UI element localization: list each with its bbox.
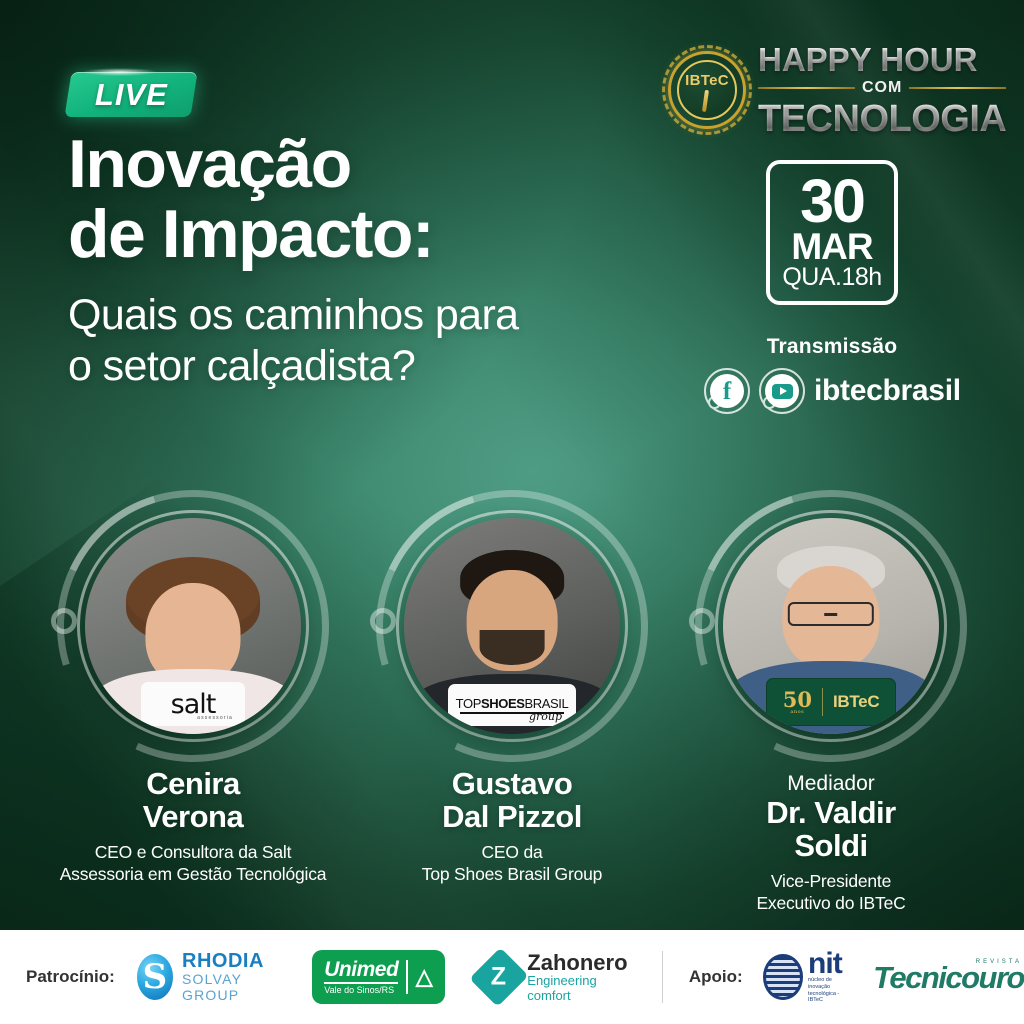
happy-hour-logo: IBTeC HAPPY HOUR COM TECNOLOGIA — [666, 44, 966, 136]
ibtec-clock-icon: IBTeC — [666, 49, 748, 131]
speaker-company-badge-ibtec: 50anos IBTeC — [766, 678, 896, 726]
sponsor-bar: Patrocínio: RHODIA SOLVAY GROUP Unimed V… — [0, 930, 1024, 1024]
ibtec-badge-label: IBTeC — [833, 692, 879, 712]
tecnicouro-sub: REVISTA — [976, 959, 1022, 965]
unimed-divider — [406, 960, 408, 994]
unimed-sub: Vale do Sinos/RS — [324, 986, 394, 995]
tecnicouro-name: Tecnicouro — [873, 960, 1024, 995]
ibtec-50-years-label: 50anos — [783, 689, 812, 715]
speaker-name-line-2: Verona — [28, 801, 358, 834]
nit-name: nit — [808, 950, 849, 977]
speaker-company-badge-salt: salt assessoria — [141, 682, 245, 726]
speaker-card-cenira-verona: salt assessoria Cenira Verona CEO e Cons… — [28, 490, 358, 886]
speaker-portrait-ring: TOPSHOESBRASIL group — [376, 490, 648, 762]
speaker-role-line-2: Assessoria em Gestão Tecnológica — [28, 863, 358, 885]
salt-badge-label: salt — [171, 691, 216, 718]
clock-brand-label: IBTeC — [666, 72, 748, 89]
topshoes-badge-script: group — [529, 710, 562, 723]
portrait-node-icon — [51, 608, 77, 634]
sponsor-logo-tecnicouro: Tecnicouro REVISTA — [873, 962, 1024, 993]
event-date-box: 30 MAR QUA.18h — [766, 160, 898, 305]
speaker-portrait-ring: 50anos IBTeC — [695, 490, 967, 762]
logo-rule-right — [909, 87, 1006, 89]
speaker-company-badge-topshoes: TOPSHOESBRASIL group — [448, 684, 576, 726]
subheadline-line-1: Quais os caminhos para — [68, 290, 688, 341]
facebook-glyph: f — [723, 379, 731, 404]
speaker-role-line-1: CEO e Consultora da Salt — [28, 841, 358, 863]
speaker-name-line-1: Cenira — [28, 768, 358, 801]
unimed-rule — [324, 982, 398, 984]
headline-line-2: de Impacto: — [68, 202, 688, 268]
zahonero-mark-icon: Z — [469, 947, 528, 1006]
unimed-figure-icon: △ — [416, 966, 433, 988]
facebook-icon-disc: f — [710, 374, 744, 408]
logo-title-bottom: TECNOLOGIA — [758, 100, 1006, 138]
speaker-name-line-2: Soldi — [666, 830, 996, 863]
logo-rule-left — [758, 87, 855, 89]
rhodia-mark-icon — [137, 954, 173, 1000]
portrait-node-icon — [689, 608, 715, 634]
sponsor-logo-unimed: Unimed Vale do Sinos/RS △ — [312, 950, 444, 1004]
speaker-role-line-2: Top Shoes Brasil Group — [347, 863, 677, 885]
youtube-icon-disc — [765, 374, 799, 408]
youtube-icon[interactable] — [759, 368, 805, 414]
logo-title-top: HAPPY HOUR — [758, 43, 1006, 76]
portrait-node-icon — [370, 608, 396, 634]
portrait-glasses-icon — [788, 602, 874, 626]
apoio-label: Apoio: — [689, 967, 743, 987]
speaker-portrait-ring: salt assessoria — [57, 490, 329, 762]
zahonero-name: Zahonero — [527, 951, 632, 974]
youtube-glyph — [772, 384, 793, 399]
facebook-icon[interactable]: f — [704, 368, 750, 414]
nit-sub-2: tecnológica - IBTeC — [808, 991, 849, 1005]
speaker-photo: 50anos IBTeC — [723, 518, 939, 734]
speaker-role-line-1: CEO da — [347, 841, 677, 863]
speaker-photo: TOPSHOESBRASIL group — [404, 518, 620, 734]
event-month: MAR — [791, 229, 872, 264]
portrait-beard — [480, 630, 545, 665]
sponsor-divider — [662, 951, 663, 1003]
speaker-card-gustavo-dal-pizzol: TOPSHOESBRASIL group Gustavo Dal Pizzol … — [347, 490, 677, 886]
social-handle[interactable]: ibtecbrasil — [814, 374, 961, 408]
topshoes-badge-label: TOPSHOESBRASIL — [456, 696, 569, 711]
subheadline-line-2: o setor calçadista? — [68, 341, 688, 392]
sponsor-logo-nit: nit núcleo de inovação tecnológica - IBT… — [763, 950, 849, 1005]
event-poster: LIVE Inovação de Impacto: Quais os camin… — [0, 0, 1024, 1024]
event-day: 30 — [800, 175, 864, 227]
live-badge: LIVE — [64, 72, 197, 117]
rhodia-sub: SOLVAY GROUP — [182, 972, 278, 1003]
speaker-role-top: Mediador — [666, 772, 996, 795]
sponsor-logo-rhodia: RHODIA SOLVAY GROUP — [137, 951, 278, 1003]
patrocinio-label: Patrocínio: — [26, 967, 115, 987]
speaker-name-line-1: Dr. Valdir — [666, 797, 996, 830]
headline-line-1: Inovação — [68, 132, 688, 198]
live-badge-label: LIVE — [95, 77, 168, 113]
event-weekday-time: QUA.18h — [782, 265, 881, 290]
nit-sub-1: núcleo de inovação — [808, 977, 849, 991]
logo-title-mid: COM — [862, 79, 902, 97]
speaker-role-line-1: Vice-Presidente — [666, 870, 996, 892]
headline-block: Inovação de Impacto: Quais os caminhos p… — [68, 132, 688, 391]
unimed-name: Unimed — [324, 959, 398, 980]
speakers-section: salt assessoria Cenira Verona CEO e Cons… — [0, 490, 1024, 920]
nit-globe-icon — [763, 954, 803, 1000]
speaker-card-valdir-soldi: 50anos IBTeC Mediador Dr. Valdir Soldi V… — [666, 490, 996, 915]
social-row: f ibtecbrasil — [704, 368, 964, 414]
salt-badge-sublabel: assessoria — [197, 715, 233, 721]
broadcast-label: Transmissão — [712, 335, 952, 359]
speaker-name-line-2: Dal Pizzol — [347, 801, 677, 834]
speaker-role-line-2: Executivo do IBTeC — [666, 892, 996, 914]
rhodia-name: RHODIA — [182, 951, 278, 972]
speaker-photo: salt assessoria — [85, 518, 301, 734]
ibtec-badge-divider — [822, 688, 823, 716]
sponsor-logo-zahonero: Z Zahonero Engineering comfort — [479, 951, 632, 1003]
speaker-name-line-1: Gustavo — [347, 768, 677, 801]
zahonero-sub: Engineering comfort — [527, 974, 632, 1003]
